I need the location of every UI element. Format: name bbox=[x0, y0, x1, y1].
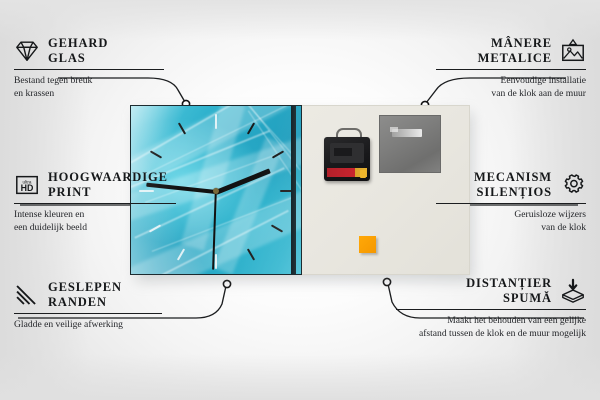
callout-title: GEHARD GLAS bbox=[48, 36, 108, 66]
callout-gehard-glas: GEHARD GLAS Bestand tegen breuk en krass… bbox=[14, 36, 164, 100]
callout-description: Gladde en veilige afwerking bbox=[14, 318, 162, 331]
callout-geslepen-randen: GESLEPEN RANDEN Gladde en veilige afwerk… bbox=[14, 280, 162, 331]
callout-rule bbox=[14, 313, 162, 314]
bevelled-edges-icon bbox=[14, 282, 40, 308]
background-vignette-bottom bbox=[0, 354, 600, 400]
ultra-hd-icon-bottom-text: HD bbox=[21, 183, 34, 193]
spacer-press-icon bbox=[560, 278, 586, 304]
background-vignette-top bbox=[0, 0, 600, 40]
callout-rule bbox=[436, 203, 586, 204]
callout-description: Intense kleuren en een duidelijk beeld bbox=[14, 208, 176, 234]
callout-title: GESLEPEN RANDEN bbox=[48, 280, 122, 310]
callout-rule bbox=[436, 69, 586, 70]
clock-movement bbox=[324, 137, 370, 181]
callout-hoogwaardige-print: ultra HD HOOGWAARDIGE PRINT Intense kleu… bbox=[14, 170, 176, 234]
gear-icon bbox=[560, 172, 586, 198]
infographic-canvas: GEHARD GLAS Bestand tegen breuk en krass… bbox=[0, 0, 600, 400]
callout-title: HOOGWAARDIGE PRINT bbox=[48, 170, 168, 200]
callout-title: MÂNERE METALICE bbox=[478, 36, 552, 66]
callout-rule bbox=[396, 309, 586, 310]
callout-description: Geruisloze wijzers van de klok bbox=[436, 208, 586, 234]
callout-title: MECANISM SILENȚIOS bbox=[474, 170, 552, 200]
foam-spacer bbox=[359, 236, 376, 253]
picture-hanging-icon bbox=[560, 38, 586, 64]
callout-description: Maakt het behouden van een gelijke afsta… bbox=[396, 314, 586, 340]
callout-distantier-spuma: DISTANȚIER SPUMĂ Maakt het behouden van … bbox=[396, 276, 586, 340]
clock-hub bbox=[213, 188, 219, 194]
callout-title: DISTANȚIER SPUMĂ bbox=[466, 276, 552, 306]
callout-manere-metalice: MÂNERE METALICE Eenvoudige installatie v… bbox=[436, 36, 586, 100]
metal-handle-closeup bbox=[379, 115, 441, 173]
callout-rule bbox=[14, 69, 164, 70]
callout-description: Eenvoudige installatie van de klok aan d… bbox=[436, 74, 586, 100]
ultra-hd-icon: ultra HD bbox=[14, 172, 40, 198]
diamond-icon bbox=[14, 38, 40, 64]
callout-mecanism-silentios: MECANISM SILENȚIOS Geruisloze wijzers va… bbox=[436, 170, 586, 234]
clock-right-edge bbox=[291, 106, 296, 275]
product-image bbox=[130, 105, 470, 277]
callout-description: Bestand tegen breuk en krassen bbox=[14, 74, 164, 100]
callout-rule bbox=[14, 203, 176, 204]
